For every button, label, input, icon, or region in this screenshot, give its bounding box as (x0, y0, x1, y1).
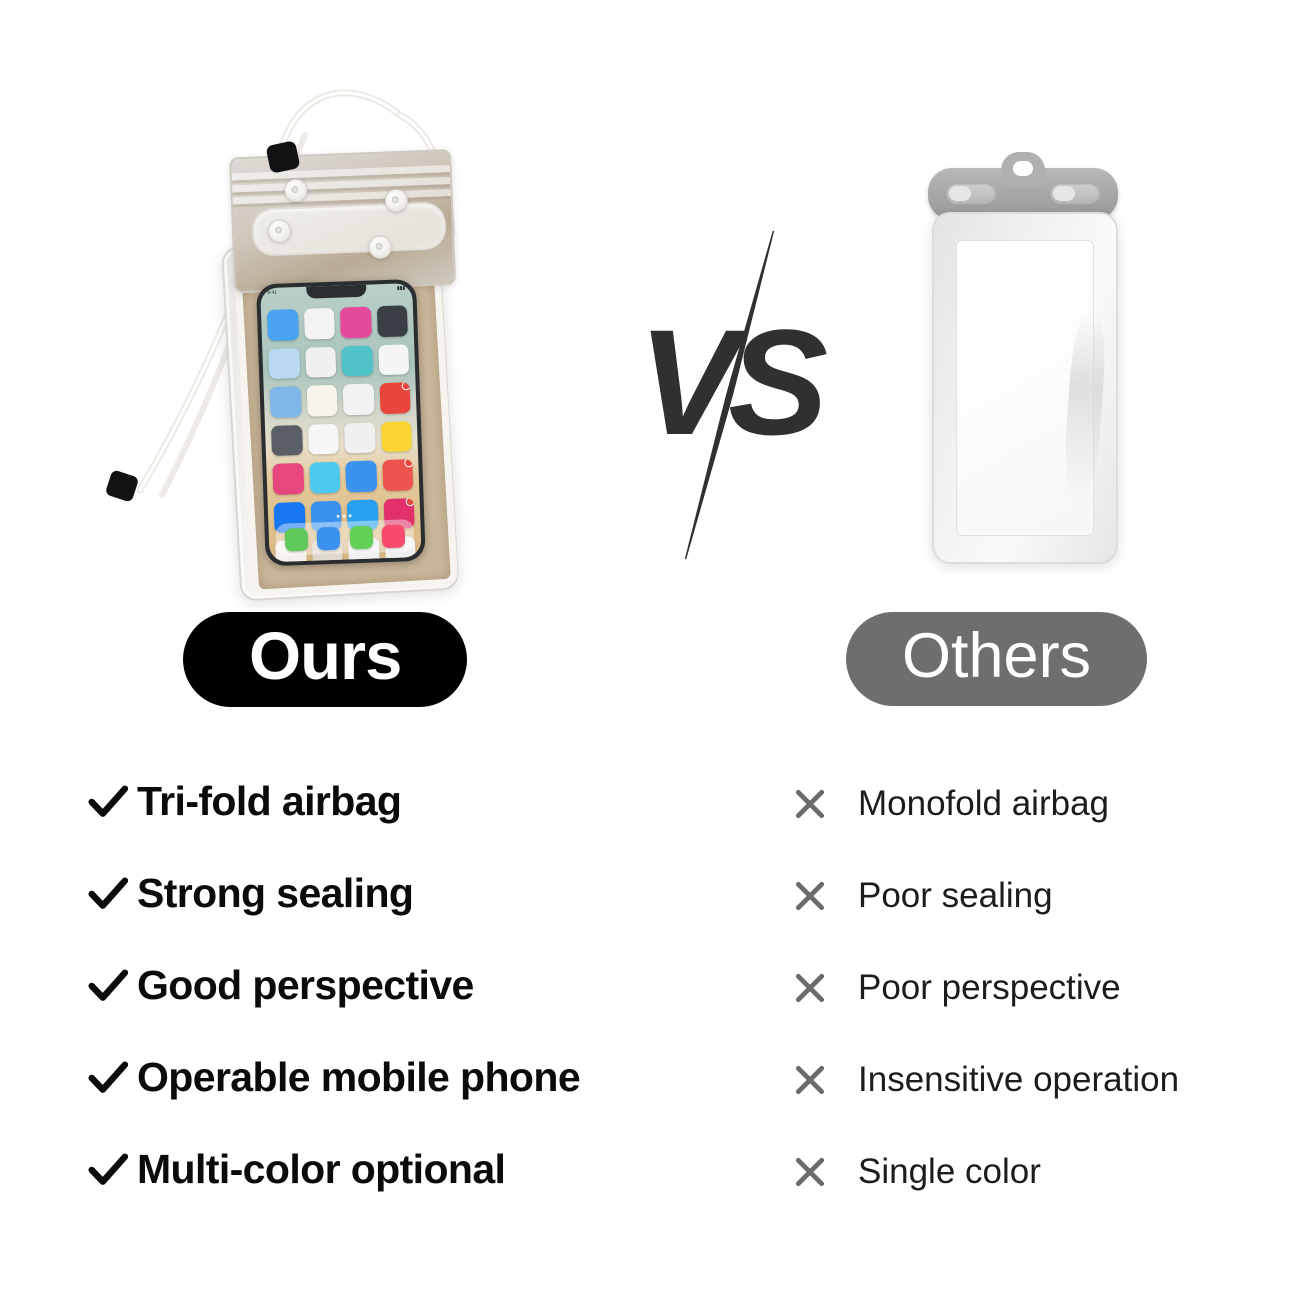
feature-label: Strong sealing (137, 870, 413, 917)
feature-label: Operable mobile phone (137, 1054, 580, 1101)
vs-label: VS (638, 307, 818, 457)
app-icon (379, 382, 411, 414)
phone-home-screen: 9:41 ▮▮▮ (260, 283, 421, 562)
app-icon (305, 346, 337, 378)
app-icon (307, 423, 339, 455)
app-icon (268, 348, 300, 380)
feature-label: Multi-color optional (137, 1146, 505, 1193)
cross-icon (790, 784, 830, 824)
check-icon (85, 778, 131, 824)
check-icon (85, 1054, 131, 1100)
others-product-image (928, 150, 1118, 570)
messages-app-icon (349, 525, 373, 549)
feature-label: Good perspective (137, 962, 474, 1009)
phone-app-icon (284, 527, 308, 551)
others-column: Others Monofold airbagPoor sealingPoor p… (790, 612, 1280, 1218)
feature-row: Multi-color optional (85, 1123, 705, 1215)
ours-badge: Ours (183, 612, 467, 707)
app-icon (309, 462, 341, 494)
check-icon (85, 962, 131, 1008)
feature-row: Insensitive operation (790, 1034, 1280, 1126)
feature-label: Poor sealing (858, 876, 1053, 916)
app-icon (378, 344, 410, 376)
feature-row: Single color (790, 1126, 1280, 1218)
app-icon (303, 308, 335, 340)
feature-row: Strong sealing (85, 847, 705, 939)
feature-label: Poor perspective (858, 968, 1121, 1008)
phone-notch (306, 285, 366, 299)
app-icon (382, 459, 414, 491)
clamp-lock-tab (946, 183, 996, 204)
ours-product-image: 9:41 ▮▮▮ (205, 132, 530, 608)
check-icon (85, 870, 131, 916)
feature-label: Single color (858, 1152, 1041, 1192)
feature-row: Tri-fold airbag (85, 755, 705, 847)
feature-row: Monofold airbag (790, 758, 1280, 850)
app-icon (267, 309, 299, 341)
snap-button (368, 235, 392, 259)
others-feature-list: Monofold airbagPoor sealingPoor perspect… (790, 758, 1280, 1218)
feature-row: Good perspective (85, 939, 705, 1031)
feature-row: Poor perspective (790, 942, 1280, 1034)
app-icon (271, 424, 303, 456)
status-time: 9:41 (267, 290, 277, 301)
feature-label: Monofold airbag (858, 784, 1109, 824)
app-icon (344, 422, 376, 454)
infographic-canvas: 9:41 ▮▮▮ VS (0, 0, 1300, 1300)
app-icon (270, 386, 302, 418)
notification-badge (404, 459, 413, 467)
check-icon (85, 1146, 131, 1192)
app-icon (272, 463, 304, 495)
feature-row: Operable mobile phone (85, 1031, 705, 1123)
music-app-icon (382, 524, 406, 548)
feature-row: Poor sealing (790, 850, 1280, 942)
notification-badge (406, 498, 415, 506)
app-icon (340, 306, 372, 338)
others-badge: Others (846, 612, 1147, 706)
ours-trifold-seal (229, 149, 456, 293)
cross-icon (790, 1060, 830, 1100)
phone-inside-pouch: 9:41 ▮▮▮ (256, 279, 426, 566)
cross-icon (790, 968, 830, 1008)
ours-feature-list: Tri-fold airbagStrong sealingGood perspe… (85, 755, 705, 1215)
notification-badge (401, 382, 410, 390)
page-indicator-dots (337, 514, 352, 518)
comparison-section: Ours Tri-fold airbagStrong sealingGood p… (0, 612, 1300, 1300)
feature-label: Insensitive operation (858, 1060, 1179, 1100)
app-icon (380, 421, 412, 453)
feature-label: Tri-fold airbag (137, 778, 401, 825)
app-icon (376, 305, 408, 337)
app-icon (345, 460, 377, 492)
ours-column: Ours Tri-fold airbagStrong sealingGood p… (85, 612, 705, 1215)
versus-badge: VS (630, 225, 845, 565)
safari-app-icon (317, 526, 341, 550)
product-showcase: 9:41 ▮▮▮ VS (0, 0, 1300, 610)
app-icon (341, 345, 373, 377)
app-icon (306, 385, 338, 417)
clamp-lock-tab (1050, 183, 1100, 204)
others-pouch-body (932, 212, 1118, 564)
app-icon (343, 383, 375, 415)
status-indicators: ▮▮▮ (397, 285, 406, 296)
hang-loop-hole (1001, 152, 1045, 186)
cross-icon (790, 876, 830, 916)
phone-dock (275, 519, 414, 556)
cross-icon (790, 1152, 830, 1192)
